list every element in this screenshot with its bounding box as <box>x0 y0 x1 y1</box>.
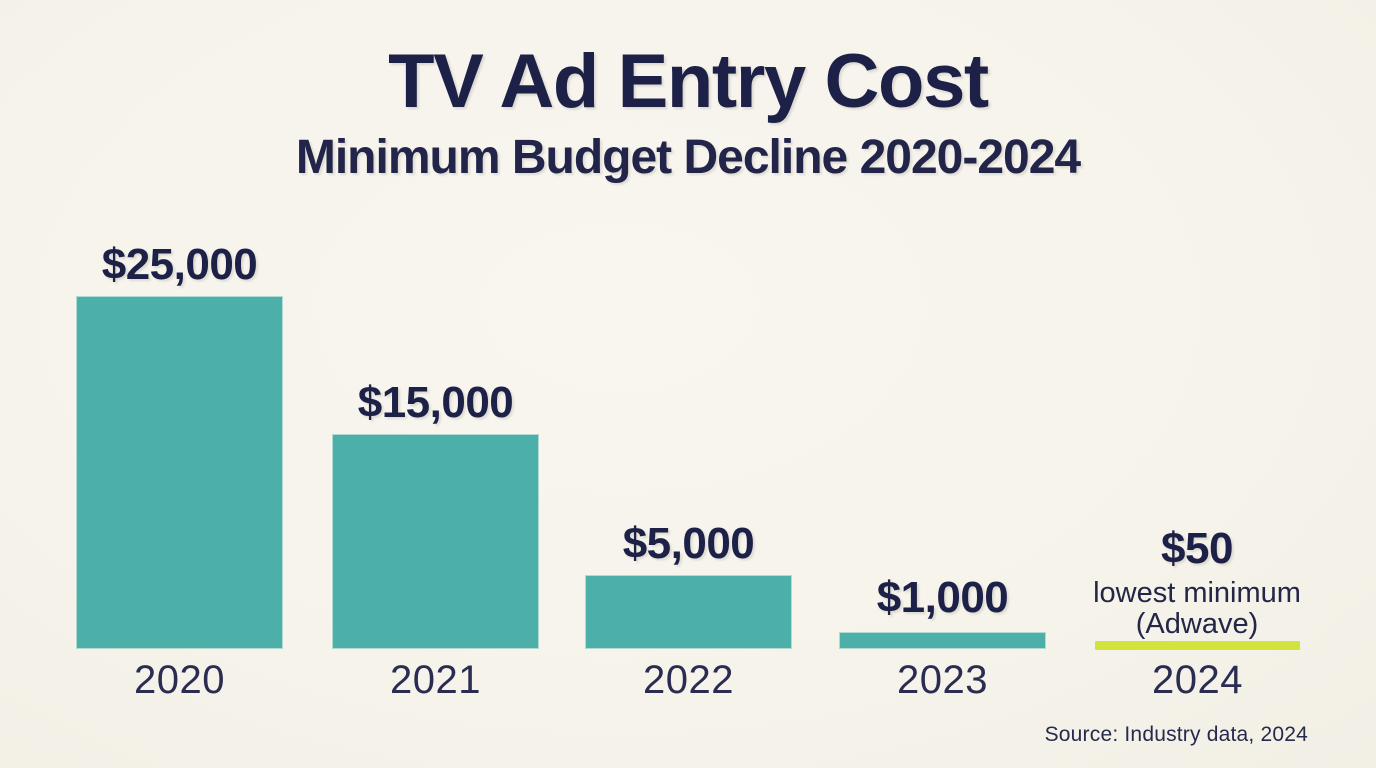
bar-2020 <box>77 297 282 648</box>
category-label-2021: 2021 <box>333 658 538 703</box>
highlight-note-line-2: (Adwave) <box>1067 609 1327 640</box>
bar-2023 <box>840 633 1045 648</box>
bar-value-label: $15,000 <box>333 378 538 428</box>
highlight-accent-rule <box>1095 641 1300 650</box>
bar-2021 <box>333 435 538 648</box>
category-label-2022: 2022 <box>586 658 791 703</box>
bar-value-label: $25,000 <box>77 240 282 290</box>
category-label-2023: 2023 <box>840 658 1045 703</box>
highlight-note-line-1: lowest minimum <box>1067 578 1327 609</box>
bar-value-label: $1,000 <box>840 573 1045 623</box>
category-label-2020: 2020 <box>77 658 282 703</box>
category-label-2024: 2024 <box>1095 658 1300 703</box>
infographic-canvas: TV Ad Entry Cost Minimum Budget Decline … <box>0 0 1376 768</box>
bar-chart-plot: $25,000 2020 $15,000 2021 $5,000 2022 $1… <box>0 0 1376 768</box>
source-note: Source: Industry data, 2024 <box>1045 723 1308 747</box>
bar-value-label: $5,000 <box>586 519 791 569</box>
bar-2022 <box>586 576 791 648</box>
highlight-value-label: $50 <box>1067 524 1327 574</box>
